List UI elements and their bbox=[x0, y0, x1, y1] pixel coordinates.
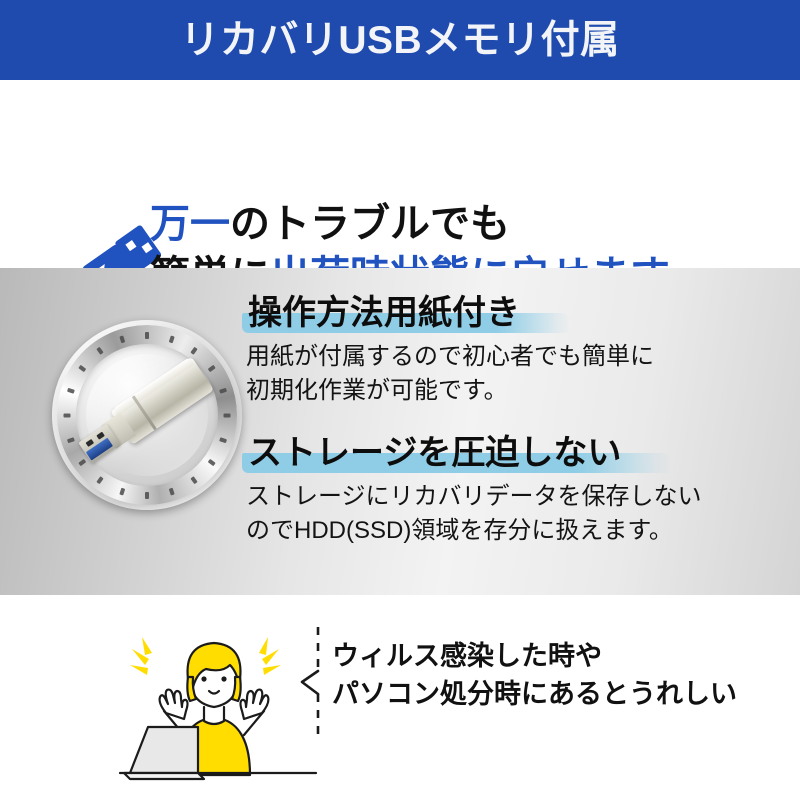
hero-line1-dark: のトラブルでも bbox=[230, 202, 510, 246]
feature-body-line-1: ストレージにリカバリデータを保存しない bbox=[246, 481, 786, 513]
feature-body-line-1: 用紙が付属するので初心者でも簡単に bbox=[246, 341, 786, 373]
feature-item: 操作方法用紙付き 用紙が付属するので初心者でも簡単に 初期化作業が可能です。 bbox=[246, 294, 786, 407]
hero-headline-line-1: 万一のトラブルでも bbox=[150, 198, 790, 250]
hero-line1-blue: 万一 bbox=[150, 202, 230, 246]
feature-heading: ストレージを圧迫しない bbox=[246, 434, 625, 474]
disc-notch bbox=[145, 332, 149, 339]
usb-memory-disc-photo bbox=[52, 320, 242, 510]
bottom-section: ウィルス感染した時や パソコン処分時にあるとうれしい bbox=[0, 595, 800, 800]
header-banner: リカバリUSBメモリ付属 bbox=[0, 0, 800, 80]
feature-heading: 操作方法用紙付き bbox=[246, 294, 524, 334]
advertisement-page: リカバリUSBメモリ付属 万一のトラブルでも 簡単に出荷時状態に戻せます bbox=[0, 0, 800, 800]
banner-title: リカバリUSBメモリ付属 bbox=[180, 21, 619, 60]
bottom-caption: ウィルス感染した時や パソコン処分時にあるとうれしい bbox=[332, 637, 792, 714]
feature-body-line-2: 初期化作業が可能です。 bbox=[246, 375, 786, 407]
bottom-caption-line-2: パソコン処分時にあるとうれしい bbox=[332, 675, 792, 713]
feature-heading-text: ストレージを圧迫しない bbox=[248, 434, 621, 472]
feature-body-line-2: のでHDD(SSD)領域を存分に扱えます。 bbox=[246, 515, 786, 547]
feature-item: ストレージを圧迫しない ストレージにリカバリデータを保存しない のでHDD(SS… bbox=[246, 434, 786, 547]
woman-with-laptop-illustration bbox=[118, 615, 318, 785]
hero-section: 万一のトラブルでも 簡単に出荷時状態に戻せます bbox=[0, 80, 800, 268]
bottom-caption-line-1: ウィルス感染した時や bbox=[332, 637, 792, 675]
feature-heading-text: 操作方法用紙付き bbox=[248, 294, 520, 332]
dashed-brace-pointer bbox=[292, 625, 334, 740]
disc-notch bbox=[145, 492, 149, 499]
features-section: 操作方法用紙付き 用紙が付属するので初心者でも簡単に 初期化作業が可能です。 ス… bbox=[0, 268, 800, 595]
